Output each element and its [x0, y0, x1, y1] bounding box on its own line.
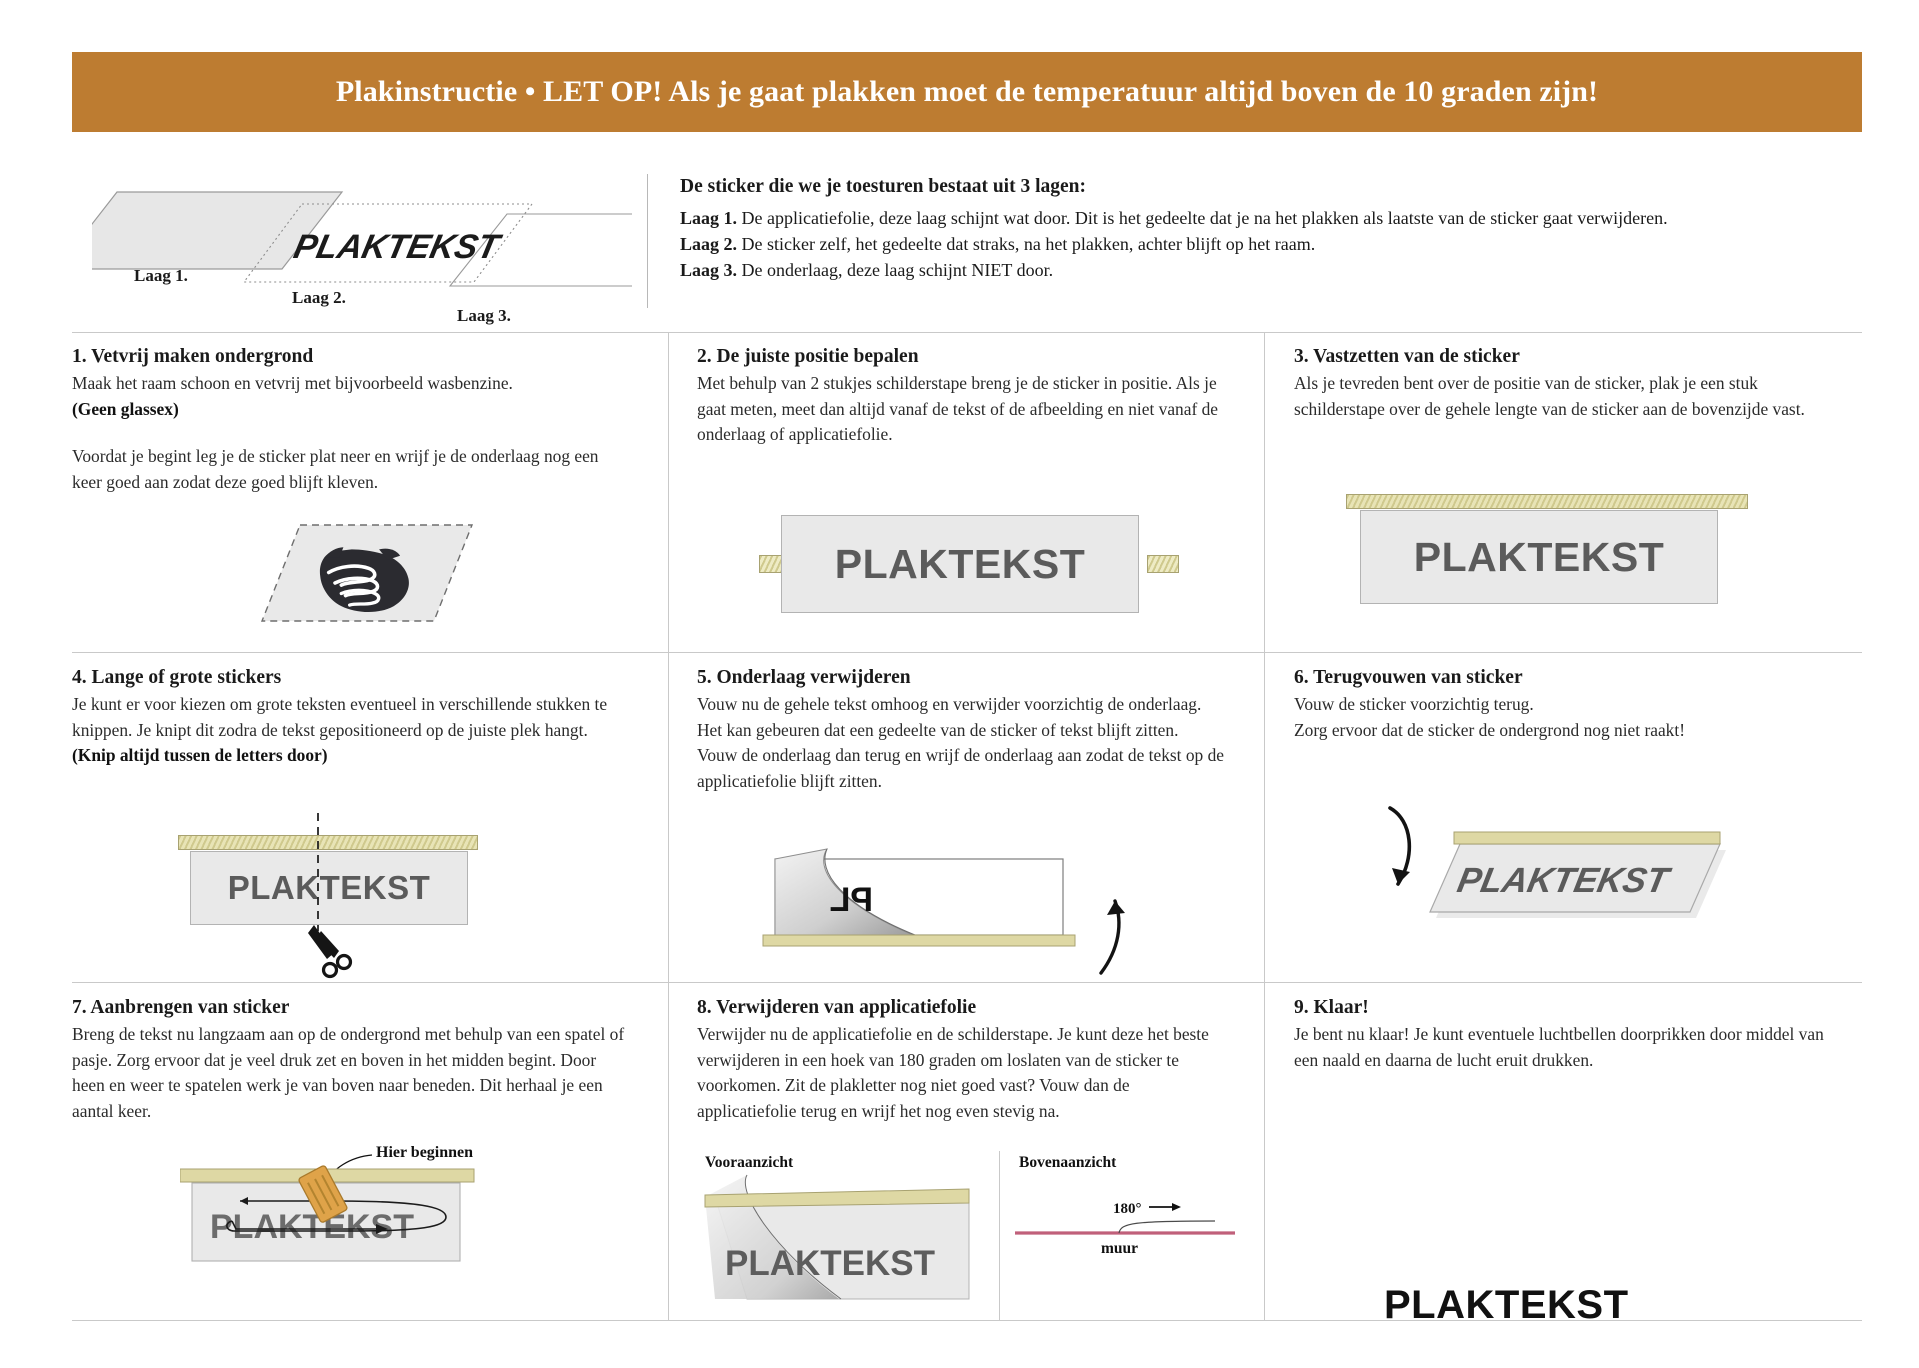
step-1-figure — [242, 517, 492, 637]
masking-tape-strip — [763, 935, 1075, 946]
step-3-title: 3. Vastzetten van de sticker — [1294, 346, 1826, 368]
step-2-title: 2. De juiste positie bepalen — [697, 346, 1228, 368]
step-5-body: Vouw nu de gehele tekst omhoog en verwij… — [697, 692, 1228, 794]
step-1-body-bold: (Geen glassex) — [72, 399, 179, 419]
step-7-callout-label: Hier beginnen — [376, 1144, 473, 1161]
intro-line-3-text: De onderlaag, deze laag schijnt NIET doo… — [737, 260, 1053, 280]
step-9-final-sticker-text: PLAKTEKST — [1384, 1283, 1629, 1328]
curved-down-arrow-icon — [1390, 808, 1410, 884]
step-6-sticker-text: PLAKTEKST — [1454, 861, 1675, 900]
steps-grid: 1. Vetvrij maken ondergrond Maak het raa… — [72, 332, 1862, 1322]
wall-label: muur — [1101, 1240, 1138, 1257]
intro-line-3: Laag 3. De onderlaag, deze laag schijnt … — [680, 257, 1862, 283]
step-4-body: Je kunt er voor kiezen om grote teksten … — [72, 692, 632, 769]
step-6-body: Vouw de sticker voorzichtig terug. Zorg … — [1294, 692, 1826, 743]
layer-diagram-container: PLAKTEKST Laag 1. Laag 2. Laag 3. — [72, 166, 647, 314]
step-8-body: Verwijder nu de applicatiefolie en de sc… — [697, 1022, 1228, 1124]
masking-tape-strip — [1454, 832, 1720, 844]
angle-arrowhead — [1172, 1203, 1181, 1211]
step-7-title: 7. Aanbrengen van sticker — [72, 997, 632, 1019]
step-6-body-line2: Zorg ervoor dat de sticker de ondergrond… — [1294, 720, 1685, 740]
step-1: 1. Vetvrij maken ondergrond Maak het raa… — [72, 332, 668, 652]
grid-vrule-1 — [668, 332, 669, 1320]
step-2-sticker: PLAKTEKST — [781, 515, 1139, 613]
step-5-body-line1: Vouw nu de gehele tekst omhoog en verwij… — [697, 694, 1201, 740]
step-6: 6. Terugvouwen van sticker Vouw de stick… — [1294, 653, 1862, 982]
layer-label-2: Laag 2. — [292, 288, 346, 308]
top-view-label: Bovenaanzicht — [1019, 1154, 1117, 1171]
page-title: Plakinstructie • LET OP! Als je gaat pla… — [336, 75, 1598, 109]
layer-label-1: Laag 1. — [134, 266, 188, 286]
layer-label-3: Laag 3. — [457, 306, 511, 326]
tape-tab-right — [1147, 555, 1179, 573]
step-7: 7. Aanbrengen van sticker Breng de tekst… — [72, 983, 668, 1320]
step-8: 8. Verwijderen van applicatiefolie Verwi… — [697, 983, 1264, 1320]
step-7-sticker-text: PLAKTEKST — [210, 1208, 414, 1246]
intro-line-1: Laag 1. De applicatiefolie, deze laag sc… — [680, 205, 1862, 231]
step-1-body-line1: Maak het raam schoon en vetvrij met bijv… — [72, 373, 513, 393]
front-view-label: Vooraanzicht — [705, 1154, 794, 1171]
step-1-title: 1. Vetvrij maken ondergrond — [72, 346, 632, 368]
step-9-body: Je bent nu klaar! Je kunt eventuele luch… — [1294, 1022, 1826, 1073]
step-7-figure: Hier beginnen PLAKTEKST — [180, 1143, 580, 1313]
step-8-front-view-figure: Vooraanzicht PLAKTEKST — [697, 1151, 992, 1321]
step-1-body-line2: Voordat je begint leg je de sticker plat… — [72, 446, 599, 492]
curved-up-arrow-icon — [1101, 901, 1125, 973]
step-6-body-line1: Vouw de sticker voorzichtig terug. — [1294, 694, 1534, 714]
step-2: 2. De juiste positie bepalen Met behulp … — [697, 332, 1264, 652]
angle-label: 180° — [1113, 1201, 1142, 1217]
intro-line-1-text: De applicatiefolie, deze laag schijnt wa… — [737, 208, 1668, 228]
step-9: 9. Klaar! Je bent nu klaar! Je kunt even… — [1294, 983, 1862, 1320]
step-5-sticker-text-mirrored: PL — [830, 881, 873, 919]
step-1-body-gap — [72, 422, 632, 444]
intro-line-1-label: Laag 1. — [680, 208, 737, 228]
intro-line-2: Laag 2. De sticker zelf, het gedeelte da… — [680, 231, 1862, 257]
step-7-body: Breng de tekst nu langzaam aan op de ond… — [72, 1022, 632, 1124]
step-8-top-view-figure: Bovenaanzicht 180° muur — [1015, 1151, 1265, 1321]
header-banner: Plakinstructie • LET OP! Als je gaat pla… — [72, 52, 1862, 132]
scissors-icon — [308, 925, 351, 977]
film-180-path — [1119, 1221, 1215, 1233]
step-3-figure: PLAKTEKST — [1346, 494, 1766, 614]
step-4-cut-overlay — [178, 813, 508, 983]
step-6-figure: PLAKTEKST — [1346, 798, 1776, 968]
step-8-sticker-text: PLAKTEKST — [725, 1244, 935, 1283]
step-8-title: 8. Verwijderen van applicatiefolie — [697, 997, 1228, 1019]
step-4: 4. Lange of grote stickers Je kunt er vo… — [72, 653, 668, 982]
step-5-figure: PL — [745, 845, 1165, 985]
step-5: 5. Onderlaag verwijderen Vouw nu de gehe… — [697, 653, 1264, 982]
intro-line-2-label: Laag 2. — [680, 234, 737, 254]
step-4-title: 4. Lange of grote stickers — [72, 667, 632, 689]
step-2-figure: PLAKTEKST — [759, 507, 1179, 617]
step-4-body-line1: Je kunt er voor kiezen om grote teksten … — [72, 694, 607, 740]
step-5-title: 5. Onderlaag verwijderen — [697, 667, 1228, 689]
layer-labels: Laag 1. Laag 2. Laag 3. — [92, 166, 632, 296]
step-9-title: 9. Klaar! — [1294, 997, 1826, 1019]
step-3: 3. Vastzetten van de sticker Als je tevr… — [1294, 332, 1862, 652]
step-2-body: Met behulp van 2 stukjes schilderstape b… — [697, 371, 1228, 448]
step-1-body: Maak het raam schoon en vetvrij met bijv… — [72, 371, 632, 495]
step-5-body-line2: Vouw de onderlaag dan terug en wrijf de … — [697, 745, 1224, 791]
masking-tape-strip — [1346, 494, 1748, 509]
step-4-body-bold: (Knip altijd tussen de letters door) — [72, 745, 328, 765]
intro-line-2-text: De sticker zelf, het gedeelte dat straks… — [737, 234, 1315, 254]
step-3-body: Als je tevreden bent over de positie van… — [1294, 371, 1826, 422]
intro-heading: De sticker die we je toesturen bestaat u… — [680, 176, 1862, 198]
intro-line-3-label: Laag 3. — [680, 260, 737, 280]
step-3-sticker: PLAKTEKST — [1360, 510, 1718, 604]
step-8-sub-divider — [999, 1151, 1000, 1321]
intro-section: PLAKTEKST Laag 1. Laag 2. Laag 3. De sti… — [72, 166, 1862, 314]
instruction-sheet: Plakinstructie • LET OP! Als je gaat pla… — [0, 0, 1919, 1368]
step-6-title: 6. Terugvouwen van sticker — [1294, 667, 1826, 689]
intro-text-block: De sticker die we je toesturen bestaat u… — [648, 166, 1862, 314]
step-4-figure: PLAKTEKST — [178, 813, 508, 983]
